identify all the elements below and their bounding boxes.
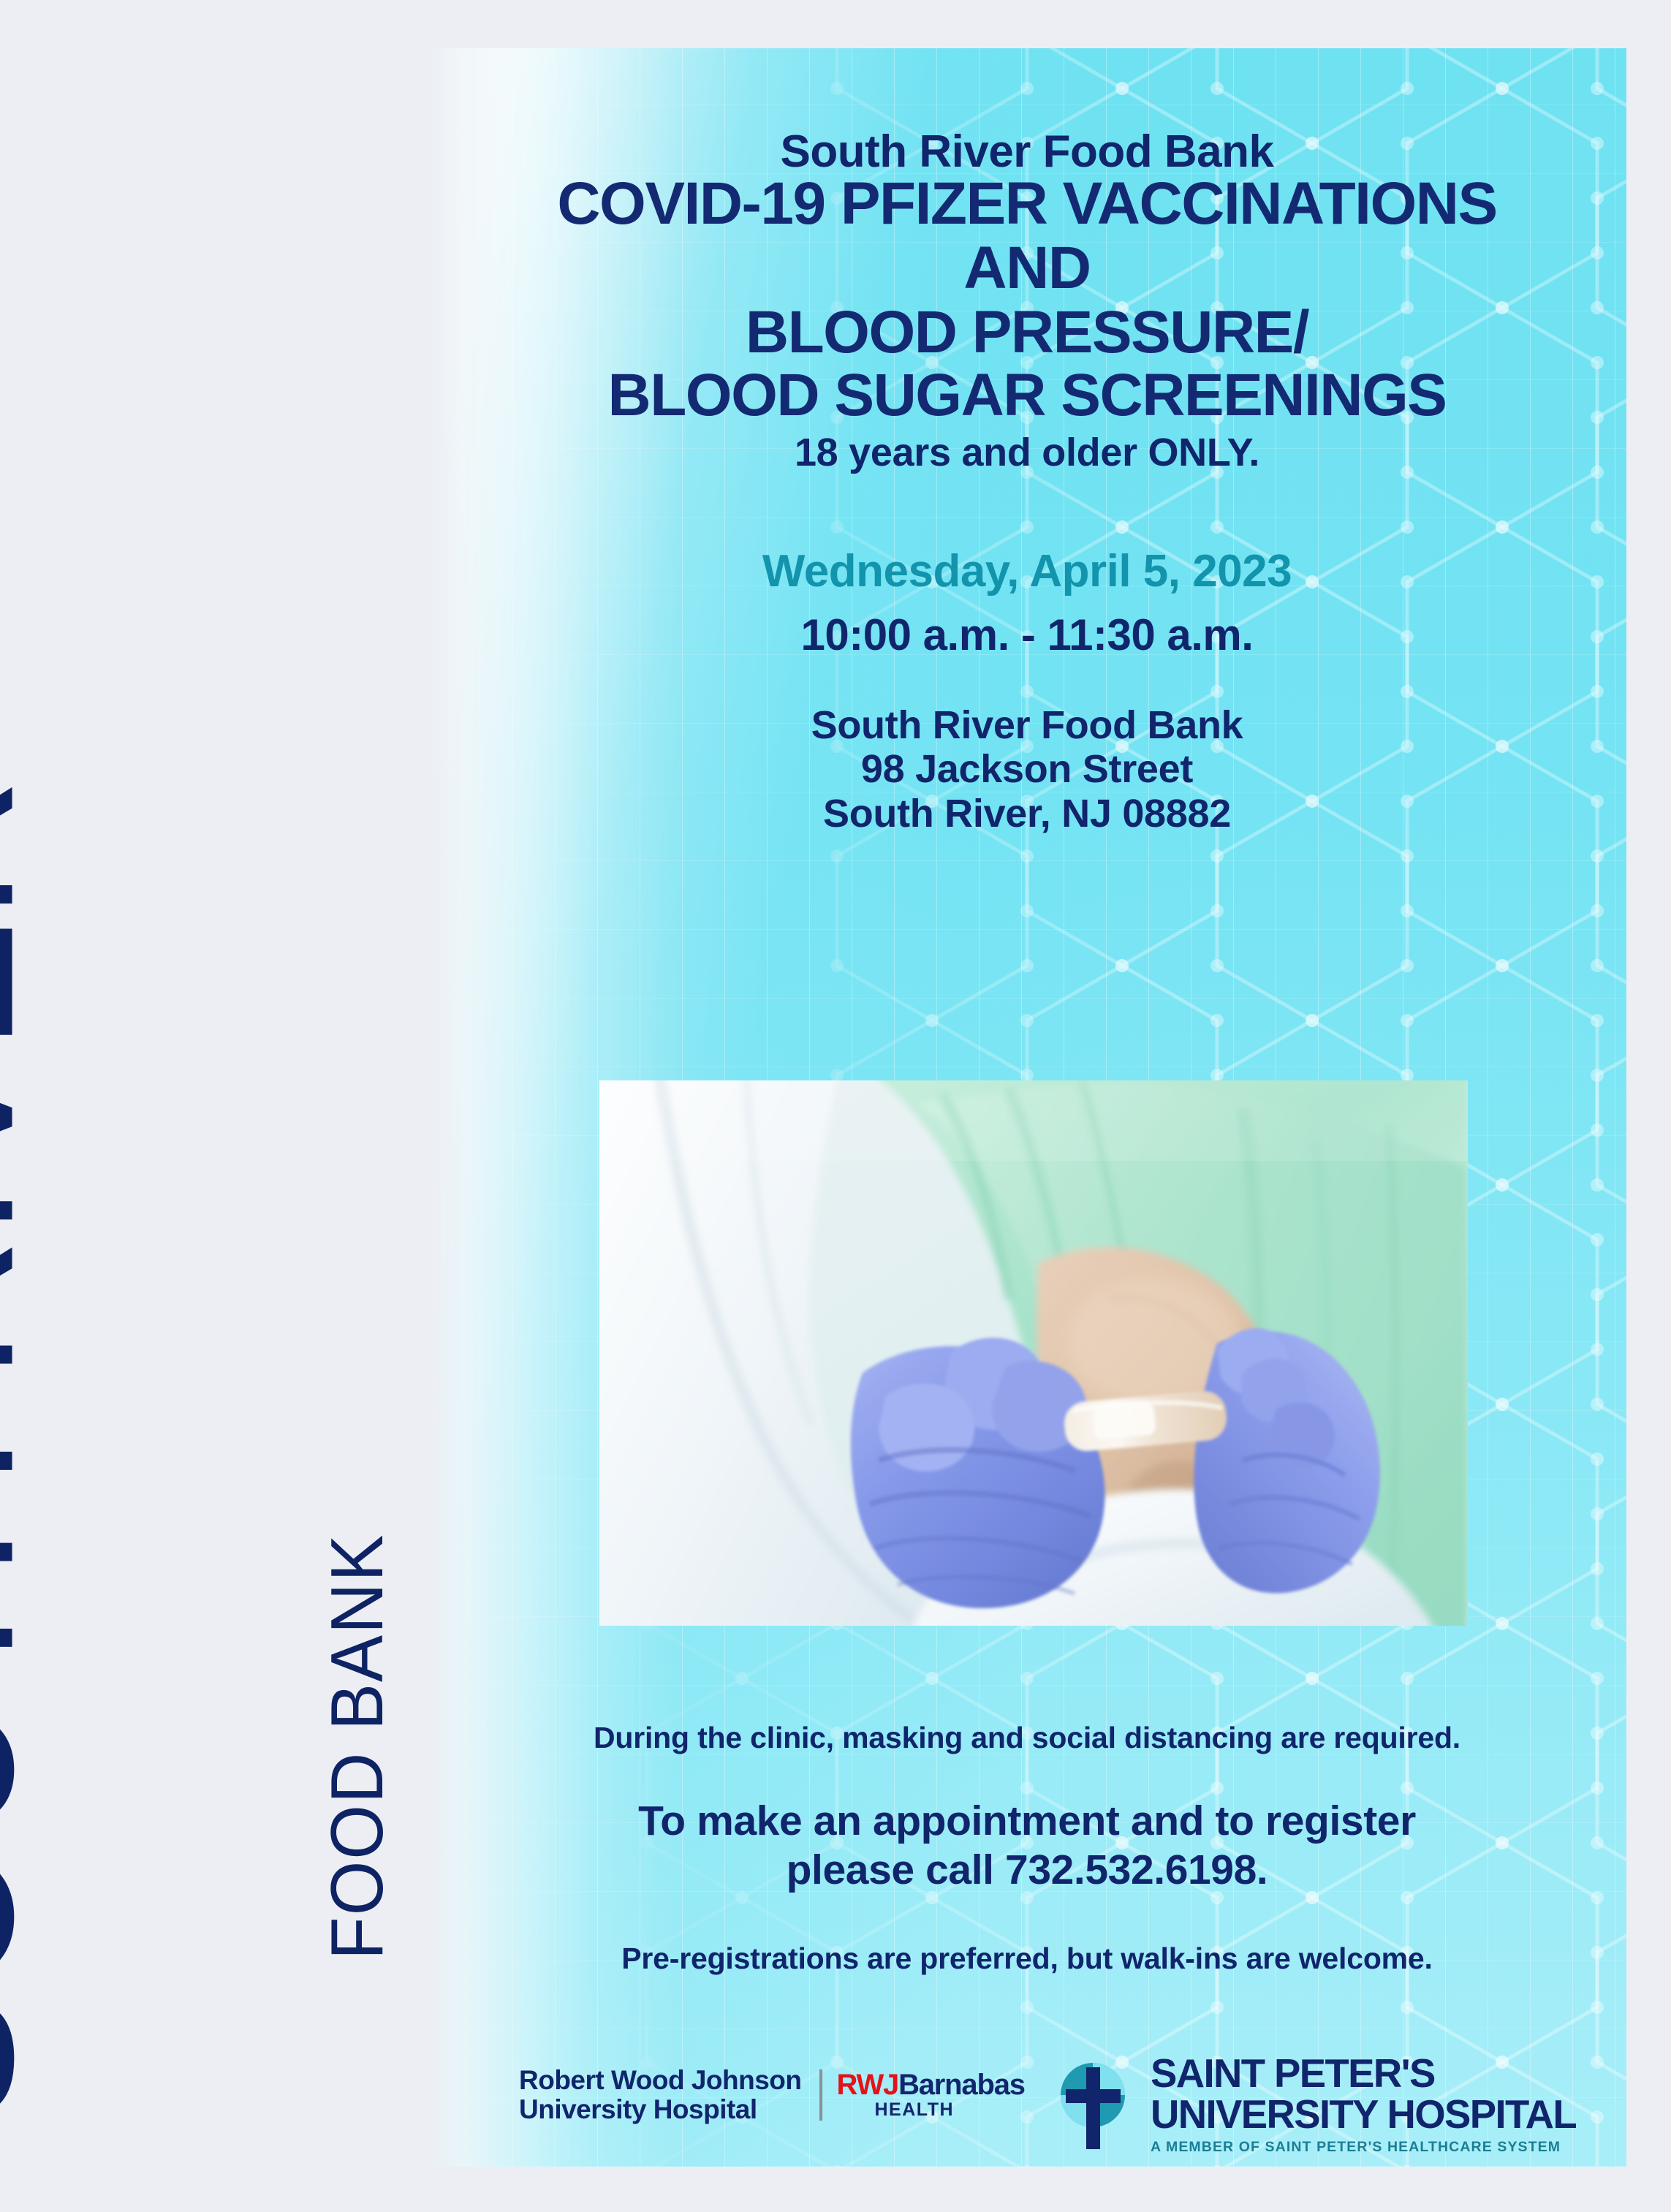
cta-line-1: To make an appointment and to register — [428, 1797, 1626, 1846]
cross-circle-icon — [1053, 2057, 1139, 2151]
rwjbarnabas-top-line: RWJBarnabas — [837, 2070, 1025, 2099]
event-date: Wednesday, April 5, 2023 — [428, 545, 1626, 597]
rwj-hospital-name: Robert Wood Johnson University Hospital — [519, 2066, 802, 2124]
rwjbarnabas-wordmark: RWJBarnabas HEALTH — [837, 2070, 1025, 2119]
headline-line-2: AND — [428, 238, 1626, 298]
event-time: 10:00 a.m. - 11:30 a.m. — [428, 610, 1626, 660]
saint-peters-logo: SAINT PETER'S UNIVERSITY HOSPITAL A MEMB… — [1053, 2054, 1580, 2154]
safety-note: During the clinic, masking and social di… — [428, 1721, 1626, 1755]
rwj-barnabas-logo: Robert Wood Johnson University Hospital … — [519, 2066, 1025, 2124]
brand-subtitle-vertical: FOOD BANK — [325, 1534, 395, 1960]
flyer-content: South River Food Bank COVID-19 PFIZER VA… — [428, 48, 1626, 2167]
logo-divider — [819, 2069, 822, 2121]
saint-peters-wordmark: SAINT PETER'S UNIVERSITY HOSPITAL A MEMB… — [1151, 2054, 1580, 2154]
rwj-initials: RWJ — [837, 2069, 899, 2101]
rwj-health-word: HEALTH — [875, 2101, 1025, 2119]
flyer-page: SOUTH RIVER FOOD BANK — [0, 0, 1671, 2212]
logo-row: Robert Wood Johnson University Hospital … — [428, 2044, 1626, 2167]
spuh-line-2: UNIVERSITY HOSPITAL — [1151, 2095, 1576, 2135]
address-venue: South River Food Bank — [428, 703, 1626, 747]
cyan-background-panel: South River Food Bank COVID-19 PFIZER VA… — [428, 48, 1626, 2167]
walkins-note: Pre-registrations are preferred, but wal… — [428, 1942, 1626, 1976]
barnabas-word: Barnabas — [898, 2069, 1025, 2101]
spuh-tagline: A MEMBER OF SAINT PETER'S HEALTHCARE SYS… — [1151, 2140, 1580, 2154]
cta-line-2: please call 732.532.6198. — [428, 1846, 1626, 1895]
vaccination-photo — [599, 1080, 1468, 1626]
address-city-state-zip: South River, NJ 08882 — [428, 792, 1626, 836]
address-street: 98 Jackson Street — [428, 747, 1626, 791]
registration-cta: To make an appointment and to register p… — [428, 1797, 1626, 1895]
headline-line-3: BLOOD PRESSURE/ — [428, 303, 1626, 363]
brand-title-vertical: SOUTH RIVER — [0, 777, 44, 2124]
vertical-brand-block: SOUTH RIVER FOOD BANK — [0, 0, 439, 2212]
age-restriction-note: 18 years and older ONLY. — [428, 430, 1626, 475]
headline-line-4: BLOOD SUGAR SCREENINGS — [428, 365, 1626, 425]
spuh-line-1: SAINT PETER'S — [1151, 2054, 1576, 2094]
event-headline: COVID-19 PFIZER VACCINATIONS AND BLOOD P… — [428, 174, 1626, 425]
event-address: South River Food Bank 98 Jackson Street … — [428, 703, 1626, 836]
brand-title-text: SOUTH RIVER — [0, 777, 44, 2124]
rwj-name-line-2: University Hospital — [519, 2095, 802, 2124]
headline-line-1: COVID-19 PFIZER VACCINATIONS — [428, 174, 1626, 234]
brand-subtitle-text: FOOD BANK — [321, 1534, 395, 1960]
rwj-name-line-1: Robert Wood Johnson — [519, 2066, 802, 2095]
